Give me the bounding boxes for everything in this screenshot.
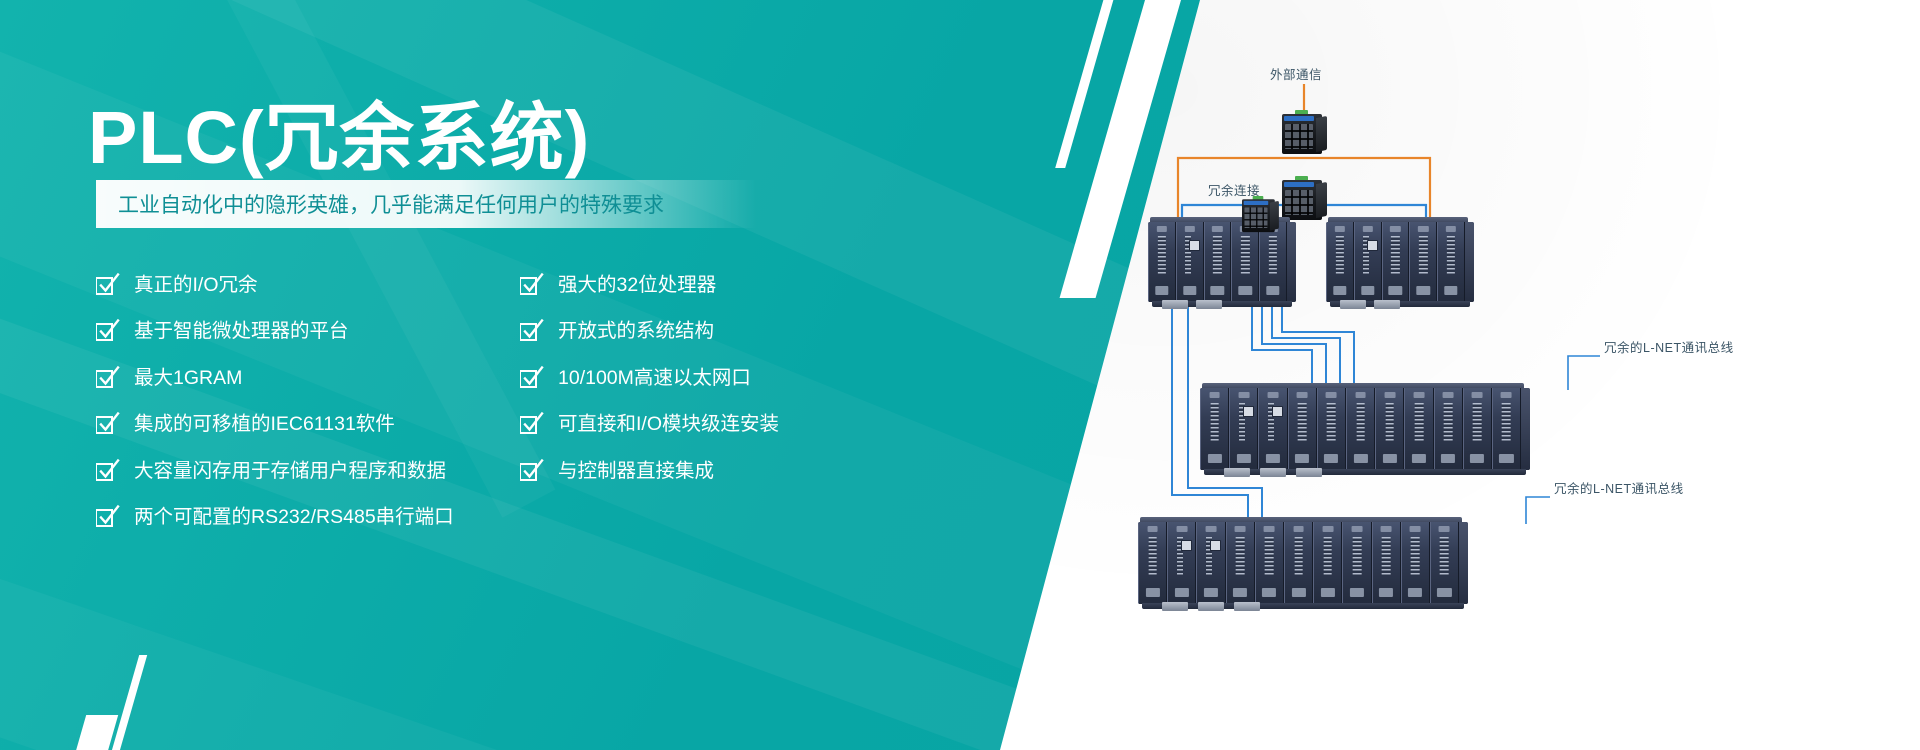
rack-end-cap [1465,222,1474,302]
ethernet-switch-top [1282,110,1328,154]
plc-module-io [1317,388,1346,470]
rack-end-cap [1521,388,1530,470]
list-item: 大容量闪存用于存储用户程序和数据 [96,448,454,495]
ethernet-switch-redundant [1282,176,1328,220]
switch-ports [1285,190,1313,215]
module-cap [1410,526,1421,532]
plc-module-io [1288,388,1317,470]
list-item-label: 最大1GRAM [134,369,242,389]
module-cap [1418,226,1428,232]
list-item-label: 基于智能微处理器的平台 [134,322,349,342]
list-item-label: 两个可配置的RS232/RS485串行端口 [134,508,454,528]
module-cap [1501,392,1512,398]
checkbox-checked-icon [96,272,121,299]
list-item: 最大1GRAM [96,355,454,402]
rack-chassis [1138,522,1468,604]
plc-module-power [1148,222,1176,302]
plc-rack-cpu-b [1326,222,1474,302]
plc-module-cpu [1196,522,1225,604]
rack-connector [1224,468,1250,477]
plc-module-io [1231,222,1259,302]
plc-module-io [1434,388,1463,470]
plc-module-power [1326,222,1354,302]
checkbox-checked-icon [520,458,545,485]
module-cap [1235,526,1246,532]
plc-module-io [1437,222,1465,302]
rj45-port [1189,240,1200,251]
switch-ports [1285,124,1313,149]
module-cap [1390,226,1400,232]
plc-module-io [1372,522,1401,604]
switch-label-strip [1244,201,1269,205]
subtitle-text: 工业自动化中的隐形英雄，几乎能满足任何用户的特殊要求 [96,189,664,219]
rack-connector [1196,300,1222,309]
list-item: 集成的可移植的IEC61131软件 [96,402,454,449]
switch-side [1316,116,1327,152]
plc-module-io [1313,522,1342,604]
module-cap [1212,226,1222,232]
rack-connector [1162,300,1188,309]
rack-connector [1296,468,1322,477]
rack-connector [1234,602,1260,611]
feature-list-right: 强大的32位处理器 开放式的系统结构 10/100M高速以太网口 可直接和I/O… [520,262,779,495]
rj45-port [1210,540,1221,551]
module-cap [1238,392,1249,398]
feature-list-left: 真正的I/O冗余 基于智能微处理器的平台 最大1GRAM 集成的可移植的IEC6… [96,262,454,541]
checkbox-checked-icon [520,411,545,438]
list-item: 基于智能微处理器的平台 [96,309,454,356]
plc-redundant-system-banner: PLC(冗余系统) 工业自动化中的隐形英雄，几乎能满足任何用户的特殊要求 真正的… [0,0,1920,750]
plc-module-io [1382,222,1410,302]
plc-rack-io-upper [1200,388,1530,470]
module-cap [1443,392,1454,398]
module-cap [1185,226,1195,232]
plc-module-cpu [1176,222,1204,302]
module-cap [1413,392,1424,398]
module-cap [1335,226,1345,232]
module-cap [1147,526,1158,532]
ethernet-switch-mid [1242,196,1275,227]
list-item: 真正的I/O冗余 [96,262,454,309]
checkbox-checked-icon [520,272,545,299]
list-item: 开放式的系统结构 [520,309,779,356]
plc-module-cpu [1354,222,1382,302]
plc-module-io [1463,388,1492,470]
list-item-label: 集成的可移植的IEC61131软件 [134,415,395,435]
module-cap [1355,392,1366,398]
list-item: 与控制器直接集成 [520,448,779,495]
switch-ports [1244,207,1267,228]
module-cap [1157,226,1167,232]
module-cap [1363,226,1373,232]
rack-chassis [1148,222,1296,302]
plc-module-cpu [1258,388,1287,470]
list-item: 两个可配置的RS232/RS485串行端口 [96,495,454,542]
list-item-label: 大容量闪存用于存储用户程序和数据 [134,462,446,482]
list-item-label: 10/100M高速以太网口 [558,369,751,389]
plc-module-cpu [1167,522,1196,604]
diagram-wires [1130,0,1920,750]
module-cap [1472,392,1483,398]
plc-rack-io-lower [1138,522,1468,604]
list-item: 强大的32位处理器 [520,262,779,309]
switch-label-strip [1284,116,1314,121]
rack-connector [1374,300,1400,309]
plc-module-io [1409,222,1437,302]
list-item-label: 与控制器直接集成 [558,462,714,482]
rj45-port [1367,240,1378,251]
checkbox-checked-icon [96,411,121,438]
plc-module-io [1342,522,1371,604]
list-item-label: 开放式的系统结构 [558,322,714,342]
diagram-label-lnet-bus-upper: 冗余的L-NET通讯总线 [1604,337,1734,356]
list-item: 10/100M高速以太网口 [520,355,779,402]
module-cap [1351,526,1362,532]
rack-end-cap [1287,222,1296,302]
network-topology-diagram: 外部通信 冗余连接 冗余的L-NET通讯总线 冗余的L-NET通讯总线 [1130,0,1920,750]
switch-label-strip [1284,182,1314,187]
rj45-port [1243,406,1254,417]
plc-module-io [1375,388,1404,470]
module-cap [1209,392,1220,398]
rj45-port [1272,406,1283,417]
module-cap [1381,526,1392,532]
plc-module-io [1204,222,1232,302]
rack-connector [1340,300,1366,309]
module-cap [1322,526,1333,532]
module-cap [1326,392,1337,398]
rack-chassis [1200,388,1530,470]
checkbox-checked-icon [96,504,121,531]
plc-module-io [1255,522,1284,604]
plc-module-io [1346,388,1375,470]
list-item: 可直接和I/O模块级连安装 [520,402,779,449]
diagram-label-external-communication: 外部通信 [1270,64,1322,83]
switch-side [1270,201,1279,231]
checkbox-checked-icon [96,365,121,392]
plc-module-io [1226,522,1255,604]
diagram-label-lnet-bus-lower: 冗余的L-NET通讯总线 [1554,478,1684,497]
rack-chassis [1326,222,1474,302]
checkbox-checked-icon [520,365,545,392]
module-cap [1297,392,1308,398]
plc-module-power [1200,388,1229,470]
plc-module-io [1259,222,1287,302]
rack-connector [1198,602,1224,611]
module-cap [1446,226,1456,232]
plc-module-io [1492,388,1521,470]
module-cap [1264,526,1275,532]
module-cap [1268,392,1279,398]
rack-end-cap [1459,522,1468,604]
checkbox-checked-icon [96,318,121,345]
checkbox-checked-icon [96,458,121,485]
plc-module-cpu [1229,388,1258,470]
rack-connector [1162,602,1188,611]
list-item-label: 可直接和I/O模块级连安装 [558,415,779,435]
rj45-port [1181,540,1192,551]
plc-module-io [1404,388,1433,470]
list-item-label: 强大的32位处理器 [558,276,716,296]
plc-module-io [1401,522,1430,604]
subtitle-bar: 工业自动化中的隐形英雄，几乎能满足任何用户的特殊要求 [96,180,756,228]
switch-side [1316,182,1327,218]
plc-module-io [1430,522,1459,604]
checkbox-checked-icon [520,318,545,345]
rack-bottom-rail [1204,469,1526,475]
module-cap [1439,526,1450,532]
rack-connector [1260,468,1286,477]
plc-module-io [1284,522,1313,604]
list-item-label: 真正的I/O冗余 [134,276,258,296]
module-cap [1293,526,1304,532]
plc-module-power [1138,522,1167,604]
page-title: PLC(冗余系统) [88,78,590,185]
module-cap [1206,526,1217,532]
module-cap [1176,526,1187,532]
plc-rack-cpu-a [1148,222,1296,302]
rack-bottom-rail [1142,603,1464,609]
module-cap [1384,392,1395,398]
